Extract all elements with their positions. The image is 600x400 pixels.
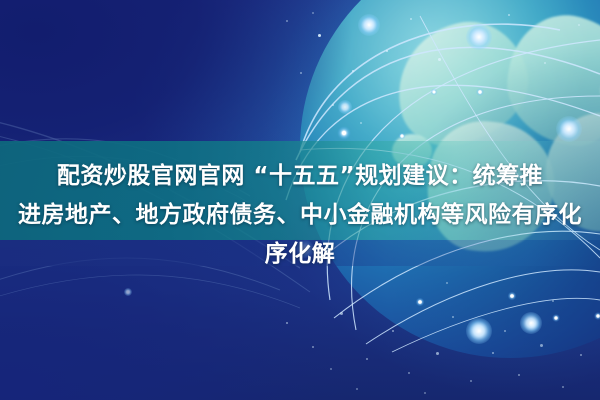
headline-line-1: 配资炒股官网官网 “十五五”规划建议：统筹推 xyxy=(0,157,600,195)
headline-line-3: 序化解 xyxy=(0,235,600,273)
headline-line-2: 进房地产、地方政府债务、中小金融机构等风险有序化 xyxy=(0,196,600,234)
banner-image: 配资炒股官网官网 “十五五”规划建议：统筹推 进房地产、地方政府债务、中小金融机… xyxy=(0,0,600,400)
